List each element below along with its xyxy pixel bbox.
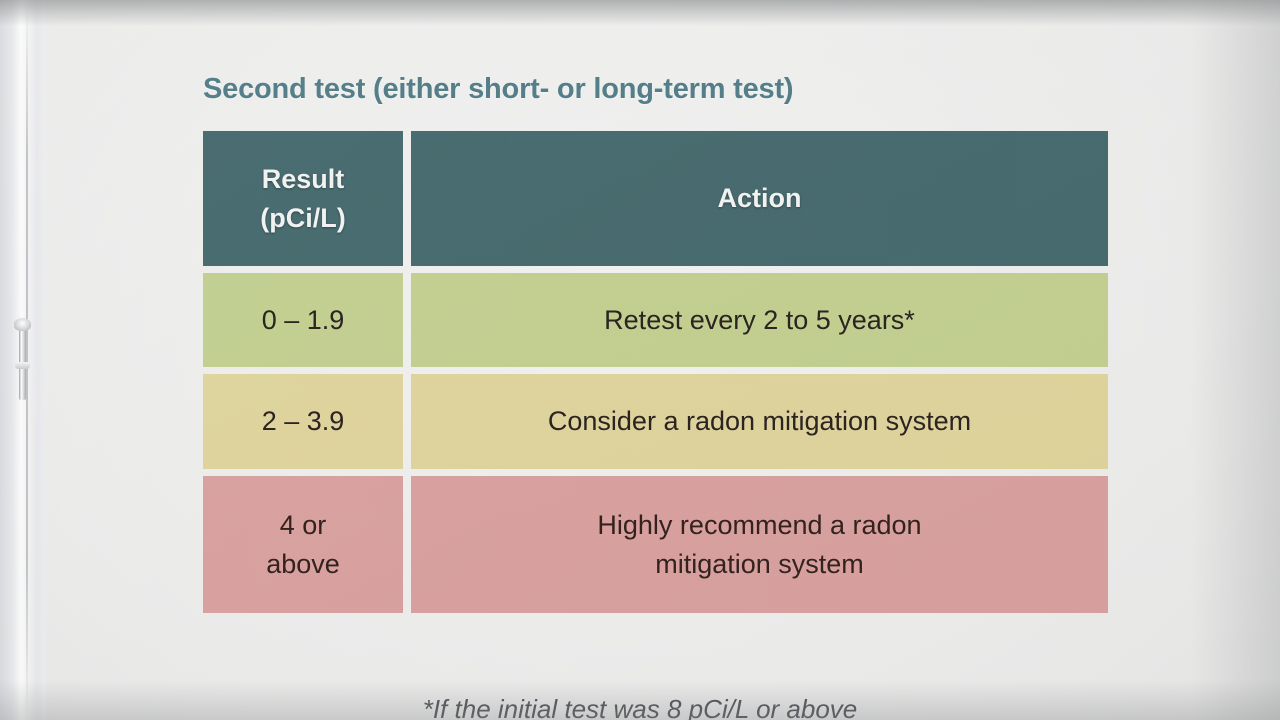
photo-vignette-right (1190, 0, 1280, 720)
action-cell-low: Retest every 2 to 5 years* (411, 273, 1108, 367)
action-text-low: Retest every 2 to 5 years* (604, 301, 915, 339)
table-header-row: Result (pCi/L) Action (203, 131, 1108, 266)
staple-head (14, 318, 31, 331)
radon-action-table: Result (pCi/L) Action 0 – 1.9 Retest eve… (203, 131, 1108, 613)
result-value-low: 0 – 1.9 (262, 301, 345, 339)
table-row: 2 – 3.9 Consider a radon mitigation syst… (203, 374, 1108, 469)
result-cell-high: 4 or above (203, 476, 403, 613)
action-text-medium: Consider a radon mitigation system (548, 402, 971, 440)
result-value-medium: 2 – 3.9 (262, 402, 345, 440)
header-result-line1: Result (260, 160, 345, 198)
action-cell-medium: Consider a radon mitigation system (411, 374, 1108, 469)
result-value-high-line1: 4 or (266, 506, 340, 544)
staple-mid (15, 362, 30, 369)
footnote-text: *If the initial test was 8 pCi/L or abov… (0, 694, 1280, 720)
action-text-high-line1: Highly recommend a radon (597, 506, 921, 544)
printed-page-photo: Second test (either short- or long-term … (0, 0, 1280, 720)
result-cell-medium: 2 – 3.9 (203, 374, 403, 469)
photo-vignette-top (0, 0, 1280, 26)
staple-icon (14, 318, 30, 404)
action-text-high-line2: mitigation system (597, 545, 921, 583)
header-action-label: Action (718, 183, 802, 214)
action-cell-high: Highly recommend a radon mitigation syst… (411, 476, 1108, 613)
page-title: Second test (either short- or long-term … (203, 73, 793, 106)
header-cell-result: Result (pCi/L) (203, 131, 403, 266)
table-row: 0 – 1.9 Retest every 2 to 5 years* (203, 273, 1108, 367)
header-cell-action: Action (411, 131, 1108, 266)
result-value-high-line2: above (266, 545, 340, 583)
result-cell-low: 0 – 1.9 (203, 273, 403, 367)
table-row: 4 or above Highly recommend a radon miti… (203, 476, 1108, 613)
header-result-line2: (pCi/L) (260, 199, 345, 237)
